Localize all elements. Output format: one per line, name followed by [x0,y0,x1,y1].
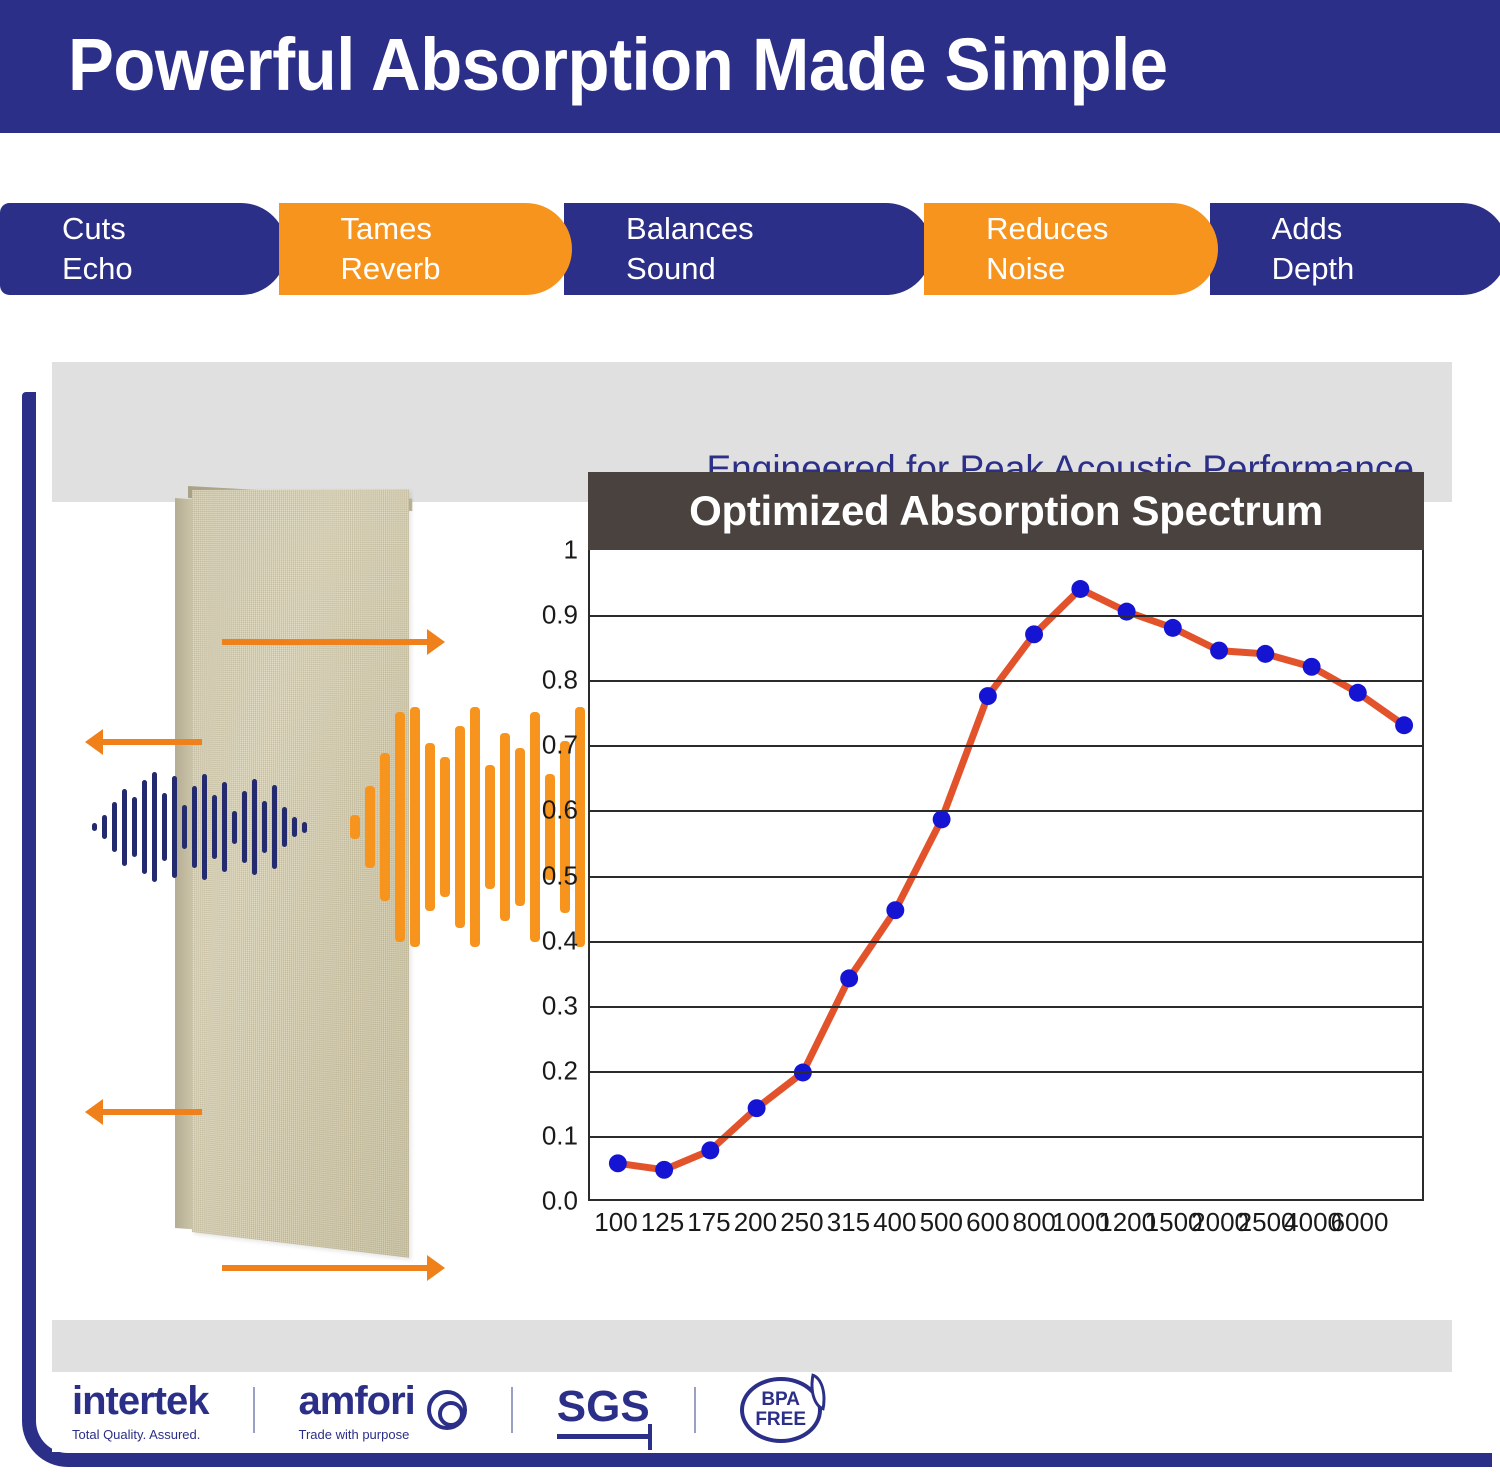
pill-line-2: Echo [62,249,287,289]
data-point-marker [1164,619,1182,637]
header-underline [0,129,1500,133]
wave-bar [182,805,187,849]
chart-title: Optimized Absorption Spectrum [689,487,1323,535]
card-top-strip [52,362,1452,436]
cert-logo-intertek: intertek Total Quality. Assured. [72,1379,209,1442]
wave-bar [282,807,287,847]
wave-bar [212,795,217,859]
data-point-marker [609,1154,627,1172]
chart-xtick-label: 175 [687,1207,730,1238]
wave-bar [515,748,525,906]
chart-plot-area: 10.90.80.70.60.50.40.30.20.10.0 [588,550,1424,1201]
chart-xaxis-labels: 1001251752002503154005006008001000120015… [588,1207,1424,1247]
pill-line-1: Balances [626,209,932,249]
panel-illustration [92,472,562,1272]
chart-gridline [590,810,1422,812]
data-point-marker [1118,603,1136,621]
data-point-marker [840,969,858,987]
data-point-marker [1395,716,1413,734]
chart-ytick-label: 0.3 [542,990,578,1021]
data-point-marker [1303,658,1321,676]
wave-bar [272,785,277,869]
chart-ytick-label: 0.4 [542,925,578,956]
wave-bar [162,793,167,861]
benefit-pill-cuts-echo[interactable]: Cuts Echo [0,203,287,295]
chart-gridline [590,680,1422,682]
wave-bar [202,774,207,880]
wave-bar [192,786,197,867]
cert-name: BPA [761,1390,800,1410]
main-card: Engineered for Peak Acoustic Performance… [52,362,1452,1452]
benefit-pill-adds-depth[interactable]: Adds Depth [1210,203,1500,295]
wave-bar [142,780,147,875]
chart-ytick-label: 0.2 [542,1055,578,1086]
wave-bar [132,797,137,856]
chart-xtick-label: 500 [920,1207,963,1238]
pill-line-2: Noise [986,249,1218,289]
chart-xtick-label: 125 [641,1207,684,1238]
cert-logo-sgs: SGS [557,1382,650,1439]
wave-bar [395,712,405,942]
wave-bar [222,782,227,872]
cert-name: amfori [299,1379,415,1424]
incoming-soundwave-icon [92,772,307,882]
chart-ytick-label: 0.1 [542,1120,578,1151]
wave-bar [500,733,510,920]
certification-row: intertek Total Quality. Assured. amfori … [52,1372,1452,1448]
callout-arrow-top-icon [222,639,428,645]
cert-logo-bpa-free: BPA FREE [740,1377,822,1443]
chart-ytick-label: 0.5 [542,860,578,891]
callout-arrow-left-upper-icon [102,739,202,745]
pill-line-2: Depth [1272,249,1500,289]
chart-ytick-label: 0.9 [542,600,578,631]
cert-logo-amfori: amfori Trade with purpose [299,1379,467,1442]
data-point-marker [748,1099,766,1117]
chart-xtick-label: 315 [827,1207,870,1238]
chart-xtick-label: 200 [734,1207,777,1238]
data-point-marker [1071,580,1089,598]
wave-bar [365,786,375,868]
chart-ytick-label: 0.0 [542,1186,578,1217]
wave-bar [470,707,480,947]
leaf-icon [804,1373,831,1410]
data-point-marker [1210,642,1228,660]
benefit-pill-tames-reverb[interactable]: Tames Reverb [279,203,573,295]
pill-line-1: Adds [1272,209,1500,249]
wave-bar [122,789,127,866]
cert-tagline: FREE [755,1410,806,1430]
pill-line-1: Tames [341,209,573,249]
wave-bar [485,765,495,890]
chart-title-bar: Optimized Absorption Spectrum [588,472,1424,550]
data-point-marker [979,687,997,705]
pill-line-2: Sound [626,249,932,289]
cert-name: SGS [557,1382,650,1439]
chart-xtick-label: 600 [966,1207,1009,1238]
wave-bar [530,712,540,942]
pill-line-1: Reduces [986,209,1218,249]
data-point-marker [701,1141,719,1159]
cert-divider [694,1387,696,1433]
callout-arrow-bottom-icon [222,1265,428,1271]
data-point-marker [655,1161,673,1179]
chart-ytick-label: 0.8 [542,665,578,696]
wave-bar [350,815,360,839]
header-banner: Powerful Absorption Made Simple [0,0,1500,129]
data-point-marker [1349,684,1367,702]
chart-ytick-label: 0.7 [542,730,578,761]
wave-bar [262,801,267,854]
pill-line-2: Reverb [341,249,573,289]
chart-gridline [590,941,1422,943]
data-point-marker [933,810,951,828]
chart-xtick-label: 6000 [1331,1207,1389,1238]
wave-bar [380,753,390,902]
cert-tagline: Total Quality. Assured. [72,1427,209,1442]
wave-bar [252,779,257,876]
cert-tagline: Trade with purpose [299,1427,415,1442]
wave-bar [92,823,97,832]
wave-bar [112,802,117,853]
wave-bar [102,815,107,839]
chart-ytick-label: 1 [564,535,578,566]
callout-arrow-left-lower-icon [102,1109,202,1115]
chart-gridline [590,745,1422,747]
chart-line-svg [590,550,1422,1199]
wave-bar [440,757,450,896]
chart-gridline [590,1006,1422,1008]
chart-xtick-label: 250 [780,1207,823,1238]
benefit-pills-row: Cuts Echo Tames Reverb Balances Sound Re… [0,203,1500,295]
chart-xtick-label: 800 [1012,1207,1055,1238]
chart-gridline [590,876,1422,878]
wave-bar [425,743,435,911]
chart-xtick-label: 400 [873,1207,916,1238]
cert-name: intertek [72,1379,209,1424]
absorption-chart: Optimized Absorption Spectrum 10.90.80.7… [544,472,1424,1302]
card-bottom-strip [52,1320,1452,1372]
chart-xtick-label: 100 [594,1207,637,1238]
chart-gridline [590,615,1422,617]
wave-bar [455,726,465,928]
wave-bar [242,791,247,864]
data-point-marker [886,901,904,919]
data-point-marker [1025,625,1043,643]
wave-bar [410,707,420,947]
chart-gridline [590,1136,1422,1138]
benefit-pill-balances-sound[interactable]: Balances Sound [564,203,932,295]
wave-bar [292,817,297,837]
chart-ytick-label: 0.6 [542,795,578,826]
wave-bar [302,822,307,833]
page-title: Powerful Absorption Made Simple [68,22,1168,107]
cert-divider [253,1387,255,1433]
cert-divider [511,1387,513,1433]
wave-bar [232,811,237,844]
wave-bar [172,776,177,877]
pill-line-1: Cuts [62,209,287,249]
series-polyline [618,589,1404,1170]
data-point-marker [1256,645,1274,663]
benefit-pill-reduces-noise[interactable]: Reduces Noise [924,203,1218,295]
spiral-icon [427,1390,467,1430]
wave-bar [152,772,157,882]
chart-gridline [590,1071,1422,1073]
